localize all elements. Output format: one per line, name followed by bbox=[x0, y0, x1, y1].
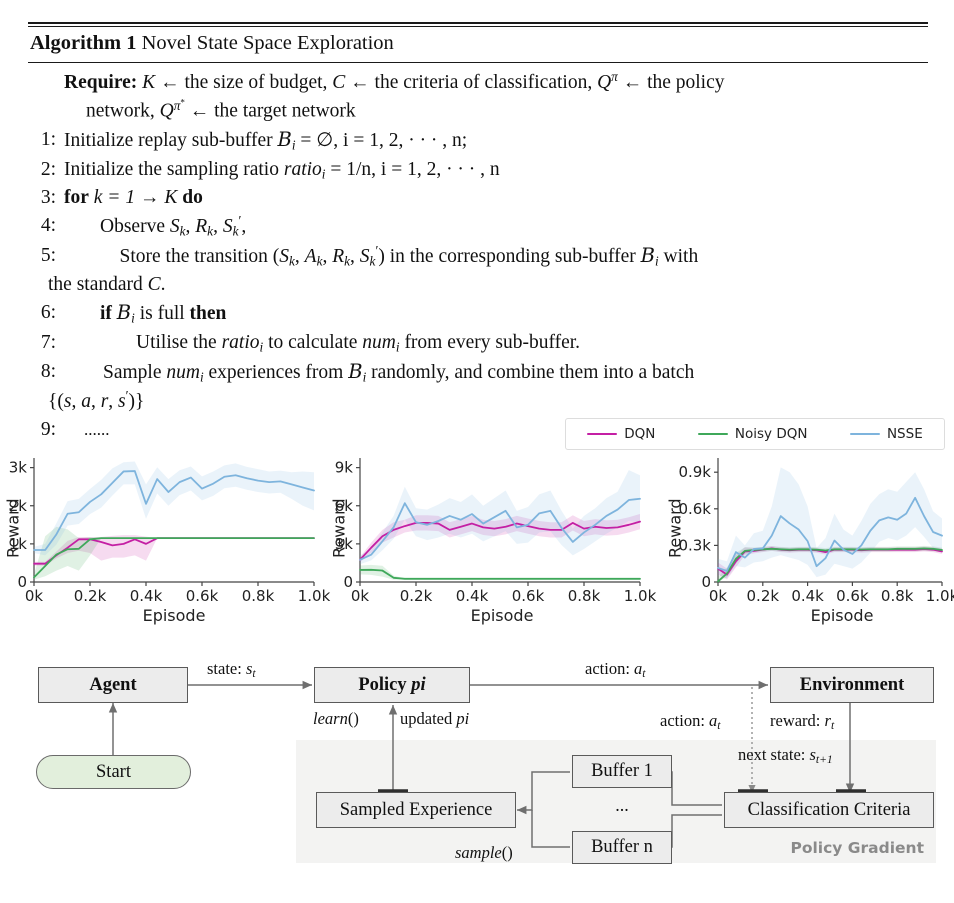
svg-text:3k: 3k bbox=[9, 459, 28, 477]
edge-label-learn: learn() bbox=[313, 709, 359, 729]
svg-text:0.6k: 0.6k bbox=[186, 587, 219, 605]
edge-label-action-dotted: action: at bbox=[660, 711, 721, 732]
diagram-node-policy[interactable]: Policy pi bbox=[314, 667, 470, 703]
step-5-continuation: the standard C. bbox=[48, 271, 926, 299]
node-label-classification-criteria: Classification Criteria bbox=[748, 800, 911, 821]
chart-2-xlabel: Episode bbox=[356, 606, 648, 625]
chart-2-plot: 03k6k9k0k0.2k0.4k0.6k0.8k1.0k bbox=[356, 454, 648, 604]
legend-swatch-noisy-dqn bbox=[698, 433, 728, 436]
legend-item-noisy-dqn: Noisy DQN bbox=[698, 426, 808, 442]
step-text: Initialize the sampling ratio ratioi = 1… bbox=[64, 159, 500, 180]
step-8-continuation: {(s, a, r, s′)} bbox=[48, 387, 926, 416]
svg-text:0.8k: 0.8k bbox=[881, 587, 914, 605]
charts-region: DQN Noisy DQN NSSE Reward 01k2k3k0k0.2k0… bbox=[0, 418, 954, 633]
svg-text:3k: 3k bbox=[335, 535, 354, 553]
node-label-start: Start bbox=[96, 762, 131, 783]
diagram-node-buffer-1[interactable]: Buffer 1 bbox=[572, 755, 672, 788]
svg-text:1.0k: 1.0k bbox=[926, 587, 954, 605]
svg-text:2k: 2k bbox=[9, 497, 28, 515]
algorithm-step-2: 2: Initialize the sampling ratio ratioi … bbox=[30, 156, 926, 185]
require-text-1: K ← the size of budget, C ← the criteria… bbox=[142, 72, 724, 93]
diagram-node-start[interactable]: Start bbox=[36, 755, 191, 789]
algorithm-step-1: 1: Initialize replay sub-buffer Bi = ∅, … bbox=[30, 126, 926, 156]
svg-text:0.4k: 0.4k bbox=[791, 587, 824, 605]
step-text: Initialize replay sub-buffer Bi = ∅, i =… bbox=[64, 130, 467, 151]
algorithm-step-5: 5: Store the transition (Sk, Ak, Rk, Sk′… bbox=[30, 242, 926, 300]
svg-text:6k: 6k bbox=[335, 497, 354, 515]
legend-label-dqn: DQN bbox=[624, 426, 655, 442]
legend-label-nsse: NSSE bbox=[887, 426, 923, 442]
chart-3-xlabel: Episode bbox=[714, 606, 954, 625]
step-text: Observe Sk, Rk, Sk′, bbox=[64, 212, 246, 242]
chart-legend: DQN Noisy DQN NSSE bbox=[565, 418, 945, 450]
edge-label-sample: sample() bbox=[455, 843, 513, 863]
svg-text:0.6k: 0.6k bbox=[512, 587, 545, 605]
svg-text:1.0k: 1.0k bbox=[298, 587, 331, 605]
node-label-sampled-experience: Sampled Experience bbox=[340, 800, 493, 821]
svg-text:1k: 1k bbox=[9, 535, 28, 553]
step-text: for k = 1 → K do bbox=[64, 187, 203, 208]
algorithm-name: Novel State Space Exploration bbox=[142, 32, 394, 54]
diagram-node-environment[interactable]: Environment bbox=[770, 667, 934, 703]
diagram-buffer-ellipsis: ... bbox=[572, 795, 672, 816]
step-number: 8: bbox=[30, 358, 56, 386]
algorithm-step-3: 3: for k = 1 → K do bbox=[30, 184, 926, 212]
svg-text:0.6k: 0.6k bbox=[678, 500, 711, 518]
node-label-agent: Agent bbox=[89, 675, 136, 696]
svg-text:1.0k: 1.0k bbox=[624, 587, 657, 605]
step-number: 2: bbox=[30, 156, 56, 184]
edge-label-next-state: next state: st+1 bbox=[738, 745, 833, 766]
svg-text:0.8k: 0.8k bbox=[242, 587, 275, 605]
chart-2-ylabel: Reward bbox=[328, 478, 350, 578]
edge-label-state: state: st bbox=[207, 659, 256, 680]
step-text: Sample numi experiences from Bi randomly… bbox=[64, 362, 694, 383]
node-label-policy: Policy bbox=[358, 675, 406, 696]
chart-3-ylabel: Reward bbox=[664, 478, 686, 578]
step-number: 5: bbox=[30, 242, 56, 270]
svg-text:0.3k: 0.3k bbox=[678, 536, 711, 554]
svg-text:0.2k: 0.2k bbox=[74, 587, 107, 605]
svg-text:0.4k: 0.4k bbox=[456, 587, 489, 605]
node-label-ellipsis: ... bbox=[615, 795, 629, 815]
chart-3-plot: 00.3k0.6k0.9k0k0.2k0.4k0.6k0.8k1.0k bbox=[714, 454, 950, 604]
require-text-2: network, Qπ* ← the target network bbox=[86, 96, 926, 125]
svg-text:0.6k: 0.6k bbox=[836, 587, 869, 605]
chart-panel-3: Reward 00.3k0.6k0.9k0k0.2k0.4k0.6k0.8k1.… bbox=[668, 452, 954, 632]
diagram-node-agent[interactable]: Agent bbox=[38, 667, 188, 703]
step-number: 1: bbox=[30, 126, 56, 154]
chart-panel-1: Reward 01k2k3k0k0.2k0.4k0.6k0.8k1.0k Epi… bbox=[4, 452, 322, 632]
node-label-buffer-n: Buffer n bbox=[591, 837, 653, 858]
svg-text:0.8k: 0.8k bbox=[568, 587, 601, 605]
step-number: 3: bbox=[30, 184, 56, 212]
chart-panel-2: Reward 03k6k9k0k0.2k0.4k0.6k0.8k1.0k Epi… bbox=[330, 452, 652, 632]
require-label: Require: bbox=[64, 72, 137, 93]
algorithm-step-7: 7: Utilise the ratioi to calculate numi … bbox=[30, 329, 926, 358]
algorithm-step-6: 6: if Bi is full then bbox=[30, 299, 926, 329]
diagram-node-buffer-n[interactable]: Buffer n bbox=[572, 831, 672, 864]
legend-swatch-dqn bbox=[587, 433, 617, 436]
algorithm-title: Algorithm 1 Novel State Space Exploratio… bbox=[28, 27, 928, 62]
step-text: if Bi is full then bbox=[64, 299, 226, 329]
step-number: 6: bbox=[30, 299, 56, 327]
svg-text:0.9k: 0.9k bbox=[678, 463, 711, 481]
svg-text:0k: 0k bbox=[351, 587, 370, 605]
algorithm-require: Require: K ← the size of budget, C ← the… bbox=[30, 68, 926, 126]
svg-text:9k: 9k bbox=[335, 459, 354, 477]
svg-text:0.2k: 0.2k bbox=[747, 587, 780, 605]
algorithm-number: Algorithm 1 bbox=[30, 32, 136, 54]
edge-label-action-top: action: at bbox=[585, 659, 646, 680]
algorithm-step-8: 8: Sample numi experiences from Bi rando… bbox=[30, 358, 926, 416]
node-label-buffer-1: Buffer 1 bbox=[591, 761, 653, 782]
chart-1-ylabel: Reward bbox=[2, 478, 24, 578]
diagram-node-classification-criteria[interactable]: Classification Criteria bbox=[724, 792, 934, 828]
legend-swatch-nsse bbox=[850, 433, 880, 436]
legend-item-dqn: DQN bbox=[587, 426, 655, 442]
algorithm-step-4: 4: Observe Sk, Rk, Sk′, bbox=[30, 212, 926, 242]
algorithm-body: Require: K ← the size of budget, C ← the… bbox=[28, 63, 928, 444]
node-label-policy-pi: pi bbox=[411, 675, 425, 696]
svg-text:0.2k: 0.2k bbox=[400, 587, 433, 605]
edge-label-updated-pi: updated pi bbox=[400, 709, 469, 729]
legend-label-noisy-dqn: Noisy DQN bbox=[735, 426, 808, 442]
step-text: Utilise the ratioi to calculate numi fro… bbox=[64, 329, 580, 358]
step-text: Store the transition (Sk, Ak, Rk, Sk′) i… bbox=[64, 246, 698, 267]
chart-1-plot: 01k2k3k0k0.2k0.4k0.6k0.8k1.0k bbox=[30, 454, 322, 604]
architecture-diagram: Policy Gradient bbox=[0, 645, 954, 895]
svg-text:0k: 0k bbox=[25, 587, 44, 605]
chart-1-xlabel: Episode bbox=[30, 606, 318, 625]
svg-text:0.4k: 0.4k bbox=[130, 587, 163, 605]
step-number: 7: bbox=[30, 329, 56, 357]
step-number: 4: bbox=[30, 212, 56, 240]
algorithm-box: Algorithm 1 Novel State Space Exploratio… bbox=[28, 22, 928, 444]
svg-text:0k: 0k bbox=[709, 587, 728, 605]
node-label-environment: Environment bbox=[800, 675, 905, 696]
legend-item-nsse: NSSE bbox=[850, 426, 923, 442]
edge-label-reward: reward: rt bbox=[770, 711, 834, 732]
diagram-node-sampled-experience[interactable]: Sampled Experience bbox=[316, 792, 516, 828]
